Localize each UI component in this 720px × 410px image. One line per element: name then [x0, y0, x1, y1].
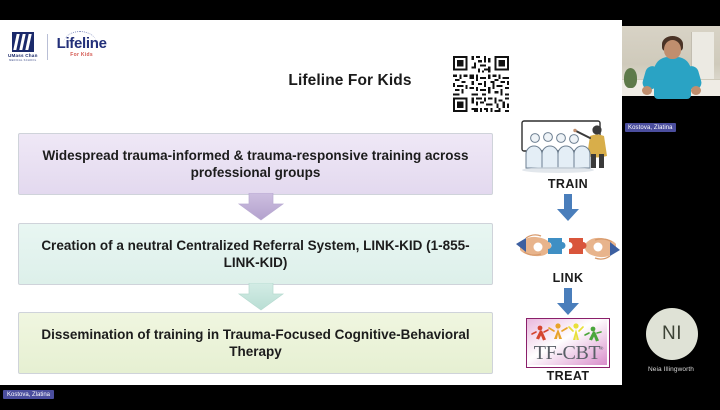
- pillar-treat-label: TREAT: [512, 369, 622, 383]
- logo-divider: [47, 34, 48, 60]
- umass-chan-logo: UMass Chan MEDICAL SCHOOL: [8, 32, 38, 62]
- person-hand-left: [642, 86, 652, 95]
- pillar-arrow-2: [555, 288, 581, 316]
- pillar-train-label: TRAIN: [512, 177, 622, 191]
- pillar-treat: TF-CBT ® TREAT: [512, 318, 622, 383]
- flow-step-dissemination: Dissemination of training in Trauma-Focu…: [18, 312, 493, 374]
- flow-arrow-2: [208, 283, 314, 311]
- participant-tile-avatar[interactable]: NI Neia Illingworth: [622, 300, 720, 410]
- umass-mark-icon: [12, 32, 34, 52]
- pillar-link-label: LINK: [512, 271, 622, 285]
- avatar: NI: [646, 308, 698, 360]
- participant-video[interactable]: [622, 18, 720, 102]
- umass-logo-line2: MEDICAL SCHOOL: [9, 59, 36, 62]
- participant-name-label: Neia Illingworth: [622, 366, 720, 373]
- classroom-training-icon: [514, 118, 622, 176]
- self-name-label: Kostova, Zlatina: [3, 390, 54, 399]
- flow-step-referral: Creation of a neutral Centralized Referr…: [18, 223, 493, 285]
- video-background: [622, 26, 720, 96]
- participant-tile-video[interactable]: Kostova, Zlatina: [622, 18, 720, 118]
- zoom-meeting-screenshare: UMass Chan MEDICAL SCHOOL Lifeline For K…: [0, 0, 720, 405]
- room-plant: [624, 68, 637, 88]
- puzzle-hands-icon: [514, 224, 622, 270]
- person-head: [664, 40, 681, 59]
- person-body: [654, 57, 691, 99]
- svg-text:TF-CBT: TF-CBT: [534, 342, 601, 364]
- flow-arrow-1: [208, 193, 314, 221]
- tf-cbt-logo-icon: TF-CBT ®: [526, 318, 610, 368]
- slide-title: Lifeline For Kids: [230, 72, 470, 90]
- flow-step-training: Widespread trauma-informed & trauma-resp…: [18, 133, 493, 195]
- qr-code-icon: [451, 54, 511, 114]
- umass-logo-line1: UMass Chan: [8, 53, 38, 58]
- shared-slide: UMass Chan MEDICAL SCHOOL Lifeline For K…: [0, 20, 622, 385]
- lifeline-logo: Lifeline For Kids: [57, 36, 107, 58]
- participant-name-label: Kostova, Zlatina: [625, 123, 676, 132]
- pillar-arrow-1: [555, 194, 581, 222]
- avatar-container: NI Neia Illingworth: [622, 300, 720, 388]
- pillar-column: TRAIN: [512, 118, 622, 383]
- person-hand-right: [691, 86, 701, 95]
- pillar-link: LINK: [512, 224, 622, 285]
- lifeline-logo-sub: For Kids: [70, 52, 93, 58]
- participant-rail: Kostova, Zlatina NI Neia Illingworth: [622, 0, 720, 405]
- pillar-train: TRAIN: [512, 118, 622, 191]
- slide-logos: UMass Chan MEDICAL SCHOOL Lifeline For K…: [8, 32, 107, 62]
- lifeline-arc-icon: [63, 31, 97, 44]
